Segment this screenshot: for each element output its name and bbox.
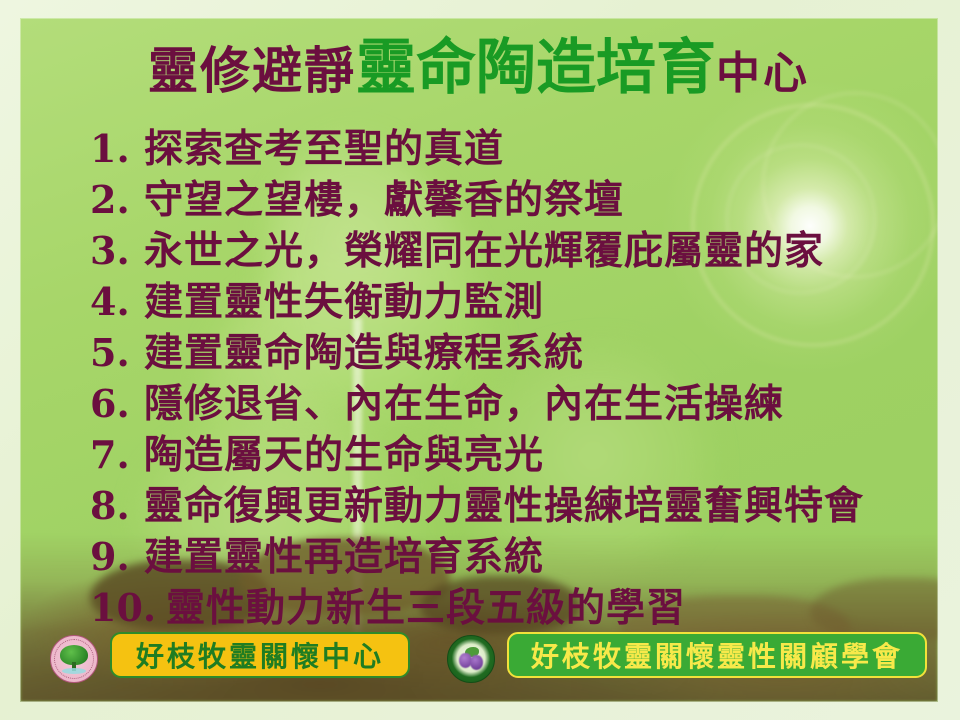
photo-panel: 靈修避靜靈命陶造培育中心 1. 探索查考至聖的真道 2. 守望之望樓，獻馨香的祭… [20,18,938,702]
title-part-formation-center: 靈命陶造培育 [356,33,716,103]
list-item-text: 永世之光，榮耀同在光輝覆庇屬靈的家 [144,220,824,276]
numbered-list: 1. 探索查考至聖的真道 2. 守望之望樓，獻馨香的祭壇 3. 永世之光，榮耀同… [90,118,938,628]
list-item-text: 建置靈命陶造與療程系統 [144,322,584,378]
list-item: 1. 探索查考至聖的真道 [90,118,938,169]
footer-banner-row: 好枝牧靈關懷中心 好枝牧靈關懷靈性關顧學會 [20,632,938,686]
list-item: 10. 靈性動力新生三段五級的學習 [90,577,938,628]
list-item: 5. 建置靈命陶造與療程系統 [90,322,938,373]
list-item-number: 1. [90,126,144,171]
list-item: 7. 陶造屬天的生命與亮光 [90,424,938,475]
grape-cluster-icon [470,655,483,670]
list-item-number: 5. [90,330,144,375]
list-item: 8. 靈命復興更新動力靈性操練培靈奮興特會 [90,475,938,526]
list-item-number: 9. [90,534,144,579]
list-item: 3. 永世之光，榮耀同在光輝覆庇屬靈的家 [90,220,938,271]
slide-title: 靈修避靜靈命陶造培育中心 [20,38,938,98]
list-item-text: 靈性動力新生三段五級的學習 [166,577,686,633]
tree-emblem-icon [50,635,98,683]
slide-canvas: 靈修避靜靈命陶造培育中心 1. 探索查考至聖的真道 2. 守望之望樓，獻馨香的祭… [0,0,960,720]
list-item-number: 3. [90,228,144,273]
grape-emblem-icon [447,635,495,683]
list-item-number: 6. [90,381,144,426]
list-item: 9. 建置靈性再造培育系統 [90,526,938,577]
list-item-number: 2. [90,177,144,222]
title-part-spiritual-retreat: 靈修避靜 [148,41,356,100]
list-item-number: 8. [90,483,144,528]
list-item-text: 探索查考至聖的真道 [144,118,504,174]
list-item-number: 4. [90,279,144,324]
list-item-text: 建置靈性失衡動力監測 [144,271,544,327]
list-item-text: 隱修退省、內在生命，內在生活操練 [144,373,784,429]
list-item: 6. 隱修退省、內在生命，內在生活操練 [90,373,938,424]
spiritual-care-association-banner[interactable]: 好枝牧靈關懷靈性關顧學會 [507,632,927,678]
pastoral-care-center-banner[interactable]: 好枝牧靈關懷中心 [110,632,410,678]
list-item-text: 建置靈性再造培育系統 [144,526,544,582]
list-item-text: 陶造屬天的生命與亮光 [144,424,544,480]
tree-base-icon [62,668,86,674]
list-item-text: 守望之望樓，獻馨香的祭壇 [144,169,624,225]
list-item-number: 10. [90,585,166,630]
list-item-text: 靈命復興更新動力靈性操練培靈奮興特會 [144,475,864,531]
title-part-center: 中心 [716,48,810,99]
list-item: 4. 建置靈性失衡動力監測 [90,271,938,322]
list-item-number: 7. [90,432,144,477]
list-item: 2. 守望之望樓，獻馨香的祭壇 [90,169,938,220]
